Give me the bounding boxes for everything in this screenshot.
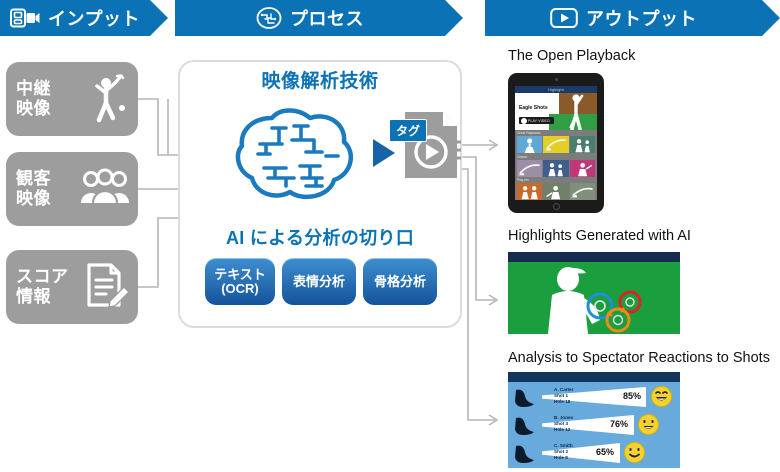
scorecard-pencil-icon — [84, 261, 130, 313]
output-title-playback: The Open Playback — [508, 48, 635, 64]
infographic-root: インプット プロセス アウトプット 中継 映像 — [0, 0, 780, 472]
analysis-row: A. CarterShot 1Hole 18 85% — [508, 383, 680, 410]
play-video-button[interactable]: PLAY VIDEO — [519, 117, 554, 124]
ai-brain-circuit-icon — [230, 104, 360, 214]
highlights-content — [508, 262, 680, 334]
analysis-row: B. JonesShot 3Hole 12 76% — [508, 411, 680, 438]
app-bar-title: Highlight — [515, 86, 597, 93]
ai-subtitle: AI による分析の切り口 — [178, 224, 462, 250]
analysis-chart-frame[interactable]: A. CarterShot 1Hole 18 85% B. JonesShot … — [508, 372, 680, 468]
reaction-percent: 76% — [610, 419, 628, 429]
thumbnail[interactable] — [543, 160, 568, 177]
input-card-label: 中継 映像 — [16, 79, 51, 118]
thumbnail-row — [515, 136, 597, 153]
hero-title: Eagle Shots — [519, 105, 548, 111]
banner-process: プロセス — [175, 0, 445, 36]
tablet-device: Highlight Eagle Shots PLAY VIDEO Great P… — [508, 73, 604, 213]
shoe-silhouette-icon — [514, 416, 536, 435]
input-card-label: 観客 映像 — [16, 169, 51, 208]
banner-output: アウトプット — [485, 0, 762, 36]
thumbnail[interactable] — [543, 183, 568, 200]
output-title-analysis: Analysis to Spectator Reactions to Shots — [508, 350, 770, 366]
highlights-topbar — [508, 252, 680, 262]
reaction-percent: 85% — [623, 391, 641, 401]
thumbnail[interactable] — [570, 183, 595, 200]
neutral-happy-face-icon — [624, 442, 645, 463]
thumbnail[interactable] — [517, 136, 542, 153]
shoe-silhouette-icon — [514, 444, 536, 463]
thumbnail-row — [515, 160, 597, 177]
crowd-people-icon — [80, 168, 130, 210]
camera-video-icon — [10, 7, 40, 29]
shoe-silhouette-icon — [514, 388, 536, 407]
tablet-camera-icon — [555, 78, 558, 81]
analysis-row-label: A. CarterShot 1Hole 18 — [554, 387, 573, 406]
process-title: 映像解析技術 — [178, 66, 462, 93]
player-silhouette-icon — [548, 267, 600, 334]
analysis-chip-group: テキスト (OCR) 表情分析 骨格分析 — [186, 258, 456, 305]
golf-swing-icon — [86, 73, 130, 125]
thumbnail[interactable] — [517, 183, 542, 200]
analysis-row-label: C. SmithShot 2Hole 8 — [554, 443, 573, 462]
flow-arrow-icon — [373, 139, 395, 167]
analysis-row-label: B. JonesShot 3Hole 12 — [554, 415, 573, 434]
input-card-score[interactable]: スコア 情報 — [6, 250, 138, 324]
chip-text-ocr[interactable]: テキスト (OCR) — [205, 258, 275, 305]
highlights-video-frame[interactable] — [508, 252, 680, 334]
banner-input-label: インプット — [48, 5, 140, 31]
laughing-face-icon — [651, 386, 672, 407]
tablet-screen[interactable]: Highlight Eagle Shots PLAY VIDEO Great P… — [515, 86, 597, 200]
input-card-label: スコア 情報 — [16, 267, 69, 306]
reaction-percent: 65% — [596, 447, 614, 457]
thumbnail[interactable] — [543, 136, 568, 153]
banner-input: インプット — [0, 0, 150, 36]
chip-skeleton-analysis[interactable]: 骨格分析 — [363, 258, 437, 305]
golfer-silhouette-icon — [563, 93, 589, 130]
hero-banner[interactable]: Eagle Shots PLAY VIDEO — [515, 93, 597, 130]
smiling-face-icon — [638, 414, 659, 435]
banner-output-label: アウトプット — [586, 5, 697, 31]
tag-badge: タグ — [389, 119, 427, 142]
thumbnail-row — [515, 183, 597, 200]
input-card-broadcast[interactable]: 中継 映像 — [6, 62, 138, 136]
ai-brain-icon — [256, 6, 282, 30]
analysis-row: C. SmithShot 2Hole 8 65% — [508, 439, 680, 466]
thumbnail[interactable] — [517, 160, 542, 177]
output-title-highlights: Highlights Generated with AI — [508, 228, 691, 244]
tablet-home-button[interactable] — [553, 203, 560, 210]
analysis-topbar — [508, 372, 680, 382]
orange-marker — [607, 309, 629, 331]
input-card-audience[interactable]: 観客 映像 — [6, 152, 138, 226]
thumbnail[interactable] — [570, 136, 595, 153]
thumbnail[interactable] — [570, 160, 595, 177]
chip-expression-analysis[interactable]: 表情分析 — [282, 258, 356, 305]
banner-process-label: プロセス — [290, 5, 364, 31]
play-button-icon — [550, 7, 578, 29]
